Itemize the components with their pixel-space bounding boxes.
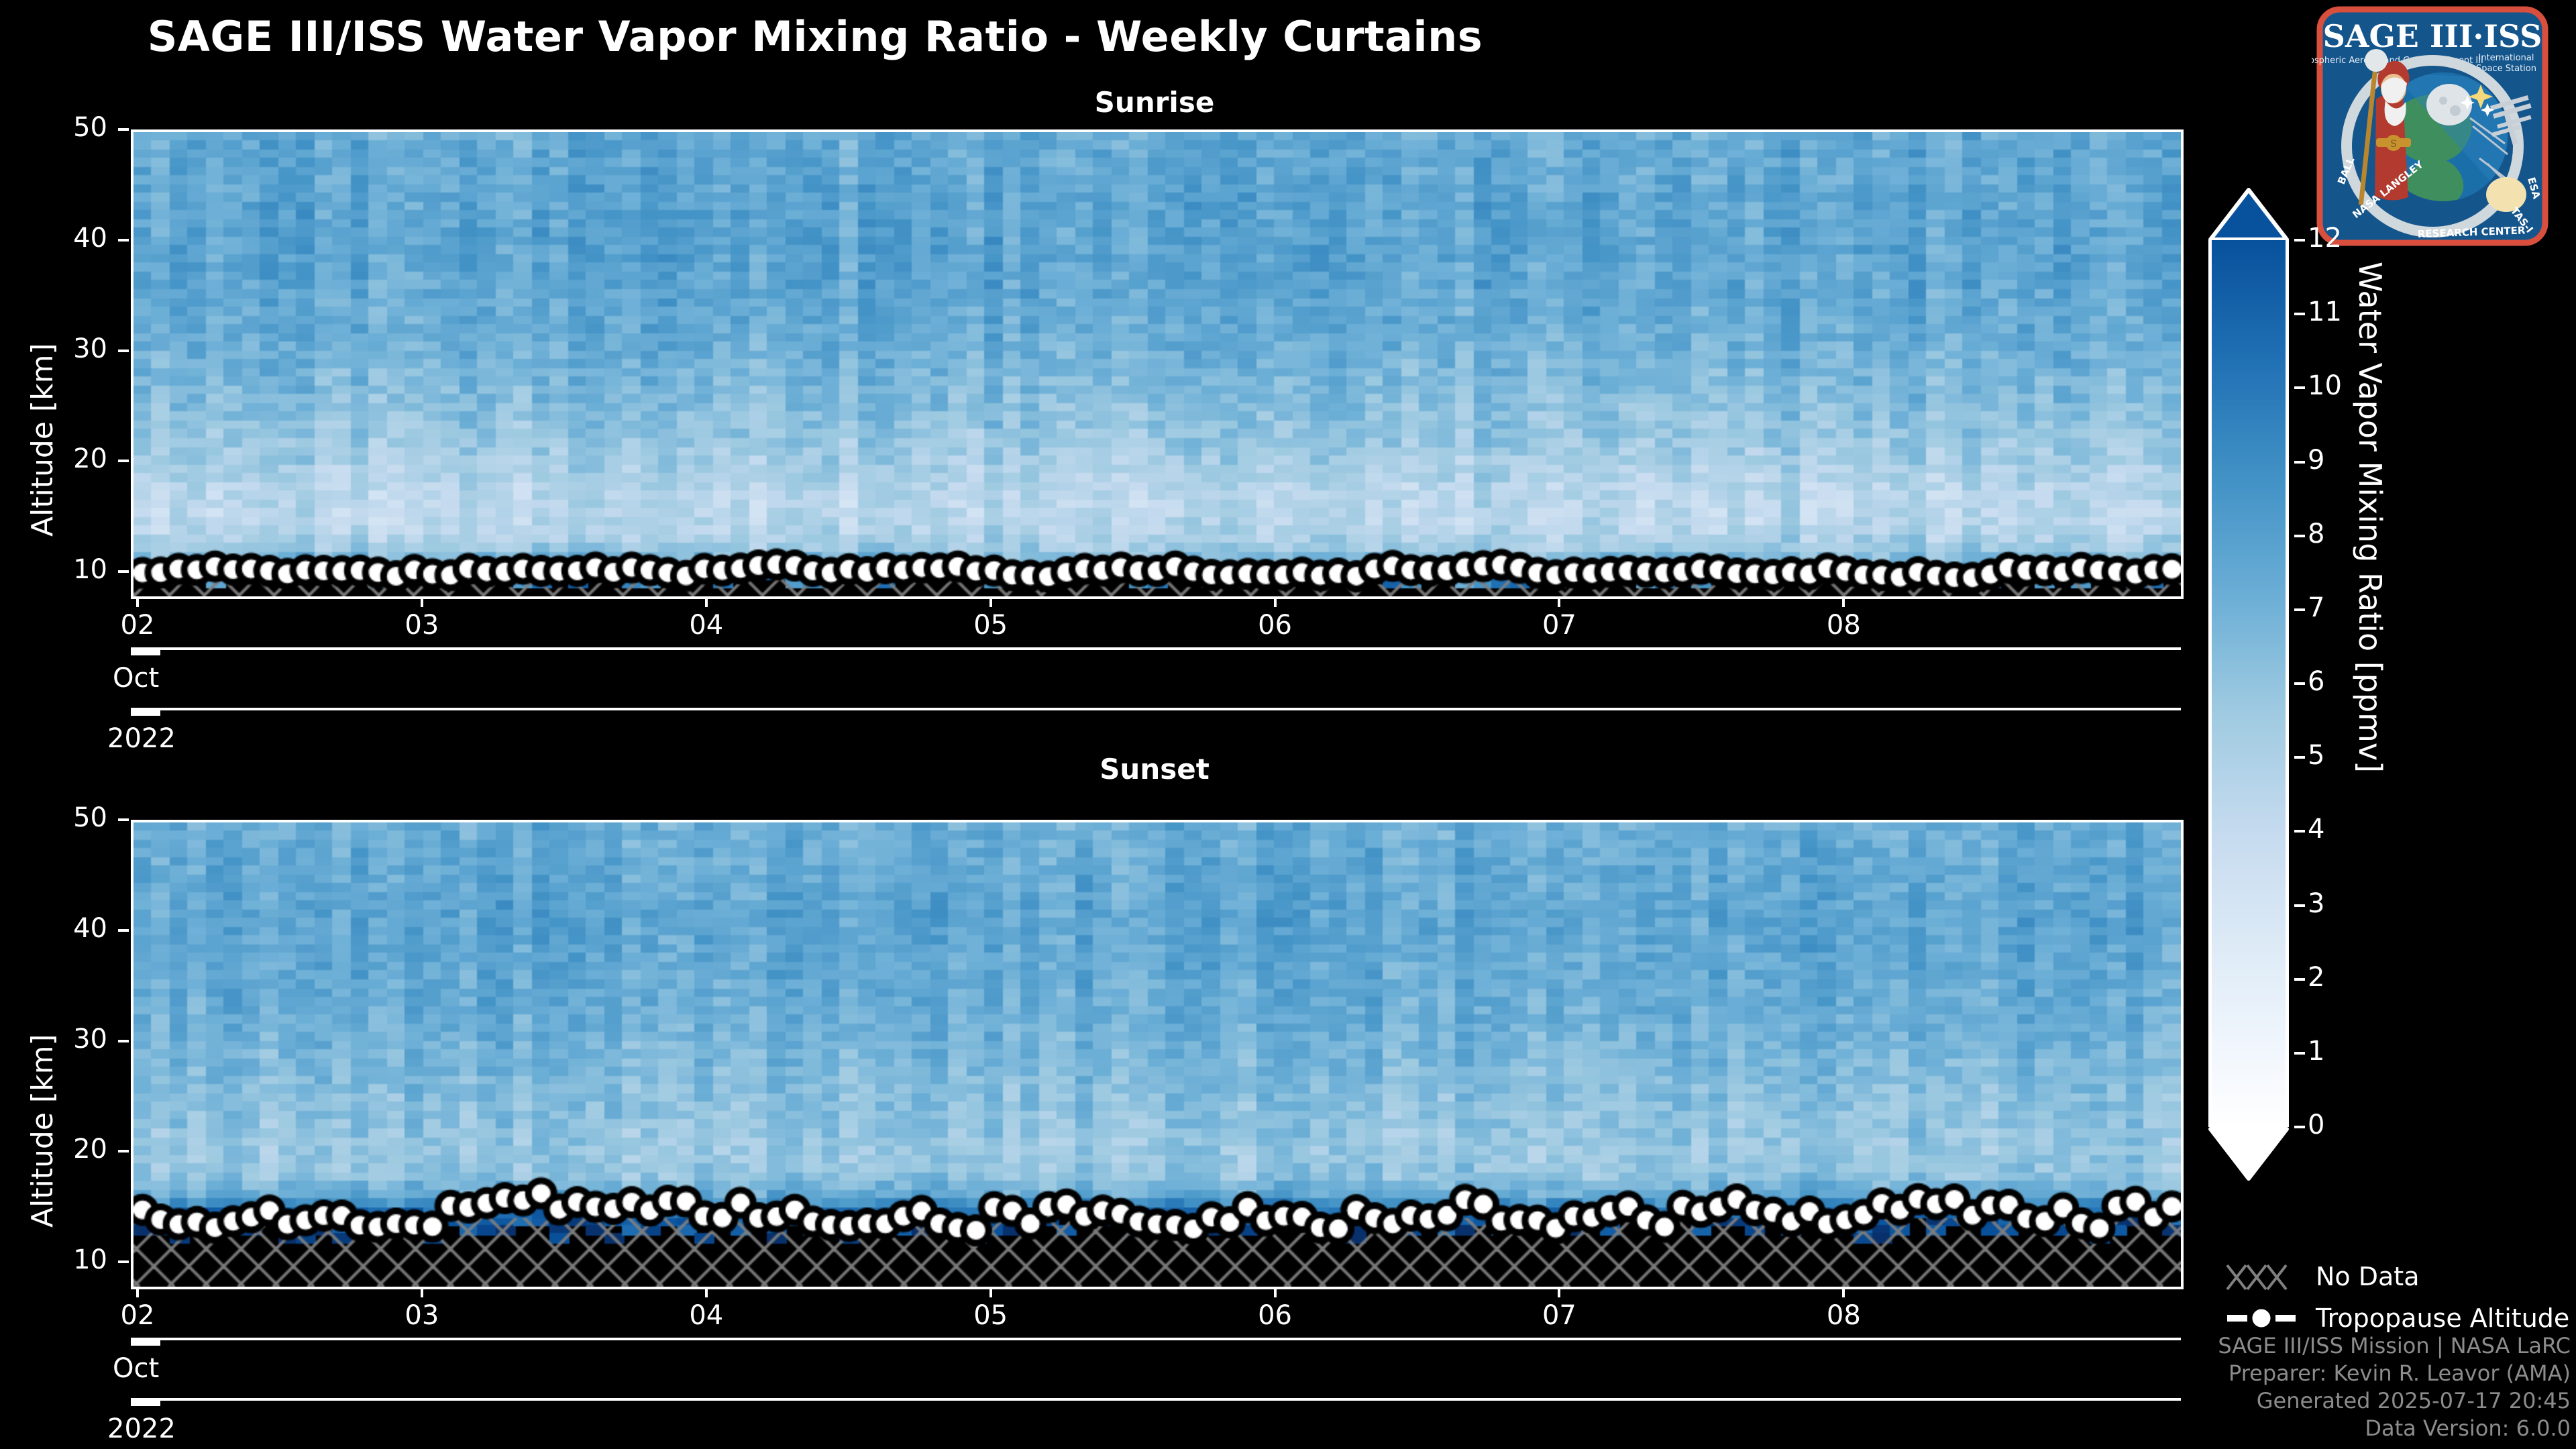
- x-tick-label: 02: [84, 610, 191, 641]
- y-tick-mark: [118, 818, 129, 821]
- x-tick-label: 05: [937, 610, 1044, 641]
- colorbar-tick-mark: [2294, 313, 2305, 315]
- x-tick-label: 06: [1222, 1300, 1329, 1331]
- date-spine-year-stub-sunrise: [131, 708, 160, 716]
- date-year-label-sunrise: 2022: [107, 723, 176, 754]
- colorbar-tick-label: 5: [2308, 740, 2324, 771]
- colorbar-tick-label: 11: [2308, 297, 2342, 327]
- legend: No Data Tropopause Altitude: [2226, 1256, 2575, 1339]
- legend-item-no-data: No Data: [2226, 1256, 2575, 1297]
- panel-title-sunrise: Sunrise: [131, 86, 2178, 119]
- x-tick-mark: [1274, 1287, 1277, 1297]
- date-spine-month-line-sunset: [131, 1338, 2181, 1340]
- colorbar-tick-label: 0: [2308, 1110, 2324, 1140]
- x-tick-label: 03: [368, 610, 476, 641]
- y-tick-label: 40: [27, 223, 107, 254]
- colorbar-tick-mark: [2294, 535, 2305, 537]
- heatmap-canvas-sunset: [133, 822, 2181, 1287]
- x-tick-label: 02: [84, 1300, 191, 1331]
- colorbar-tick-label: 1: [2308, 1036, 2324, 1067]
- logo-title-text: SAGE III·ISS: [2323, 18, 2542, 54]
- colorbar[interactable]: 1211109876543210: [2208, 188, 2289, 1181]
- tropopause-marker-icon: [2226, 1303, 2300, 1334]
- colorbar-tick-label: 8: [2308, 519, 2324, 549]
- legend-label-no-data: No Data: [2300, 1262, 2420, 1291]
- page-title: SAGE III/ISS Water Vapor Mixing Ratio - …: [0, 12, 1630, 61]
- x-tick-label: 04: [653, 1300, 760, 1331]
- colorbar-tick-label: 7: [2308, 592, 2324, 623]
- date-month-label-sunset: Oct: [113, 1353, 159, 1384]
- date-spine-month-stub-sunrise: [131, 647, 160, 655]
- colorbar-tick-mark: [2294, 386, 2305, 389]
- x-tick-mark: [989, 1287, 992, 1297]
- x-tick-label: 07: [1505, 1300, 1613, 1331]
- x-tick-mark: [1842, 1287, 1845, 1297]
- colorbar-tick-mark: [2294, 461, 2305, 464]
- x-tick-mark: [1842, 596, 1845, 607]
- x-tick-mark: [136, 596, 139, 607]
- y-tick-mark: [118, 350, 129, 352]
- heatmap-axes-sunset[interactable]: [131, 820, 2184, 1289]
- colorbar-extend-max-arrow: [2208, 188, 2289, 241]
- y-tick-mark: [118, 460, 129, 462]
- colorbar-tick-label: 2: [2308, 962, 2324, 993]
- date-spine-month-line-sunrise: [131, 647, 2181, 650]
- colorbar-tick-mark: [2294, 830, 2305, 833]
- legend-label-tropopause: Tropopause Altitude: [2300, 1303, 2569, 1333]
- colorbar-tick-mark: [2294, 904, 2305, 907]
- y-tick-label: 30: [27, 333, 107, 364]
- heatmap-axes-sunrise[interactable]: [131, 129, 2184, 599]
- colorbar-tick-mark: [2294, 756, 2305, 759]
- colorbar-label: Water Vapor Mixing Ratio [ppmv]: [2352, 262, 2388, 773]
- y-axis-label-sunset: Altitude [km]: [25, 1034, 60, 1228]
- y-tick-label: 50: [27, 112, 107, 143]
- x-tick-mark: [705, 1287, 708, 1297]
- y-tick-label: 10: [27, 1244, 107, 1275]
- x-tick-mark: [1558, 596, 1560, 607]
- logo-belt-s: S: [2390, 139, 2397, 150]
- sage-iss-mission-patch-logo: SAGE III·ISS Stratospheric Aerosol and G…: [2312, 5, 2553, 247]
- date-spine-year-line-sunset: [131, 1398, 2181, 1401]
- colorbar-tick-mark: [2294, 682, 2305, 685]
- colorbar-extend-min-arrow: [2208, 1127, 2289, 1181]
- colorbar-tick-mark: [2294, 978, 2305, 981]
- colorbar-gradient: [2208, 240, 2289, 1127]
- x-tick-label: 03: [368, 1300, 476, 1331]
- date-spine-month-stub-sunset: [131, 1338, 160, 1346]
- colorbar-tick-label: 9: [2308, 445, 2324, 476]
- logo-subtitle-right-1: International: [2479, 53, 2534, 63]
- y-tick-mark: [118, 570, 129, 573]
- logo-svg: SAGE III·ISS Stratospheric Aerosol and G…: [2312, 5, 2553, 247]
- y-tick-mark: [118, 929, 129, 932]
- y-tick-mark: [118, 128, 129, 131]
- x-tick-label: 04: [653, 610, 760, 641]
- x-tick-mark: [421, 1287, 423, 1297]
- colorbar-tick-mark: [2294, 239, 2305, 241]
- x-tick-label: 05: [937, 1300, 1044, 1331]
- colorbar-tick-label: 6: [2308, 666, 2324, 697]
- y-tick-label: 10: [27, 554, 107, 585]
- colorbar-tick-mark: [2294, 1126, 2305, 1128]
- x-tick-label: 06: [1222, 610, 1329, 641]
- date-year-label-sunset: 2022: [107, 1413, 176, 1444]
- colorbar-tick-label: 4: [2308, 814, 2324, 845]
- x-tick-mark: [705, 596, 708, 607]
- colorbar-tick-label: 10: [2308, 370, 2342, 401]
- heatmap-canvas-sunrise: [133, 132, 2181, 596]
- x-tick-label: 08: [1790, 1300, 1897, 1331]
- colorbar-tick-label: 12: [2308, 223, 2342, 254]
- footer-credits: SAGE III/ISS Mission | NASA LaRC Prepare…: [2218, 1332, 2571, 1442]
- footer-line-mission: SAGE III/ISS Mission | NASA LaRC: [2218, 1332, 2571, 1360]
- date-spine-year-line-sunrise: [131, 708, 2181, 710]
- y-tick-label: 40: [27, 913, 107, 944]
- y-tick-mark: [118, 1040, 129, 1042]
- y-tick-mark: [118, 1150, 129, 1152]
- x-tick-label: 07: [1505, 610, 1613, 641]
- footer-line-preparer: Preparer: Kevin R. Leavor (AMA): [2218, 1360, 2571, 1387]
- x-tick-mark: [989, 596, 992, 607]
- date-month-label-sunrise: Oct: [113, 663, 159, 694]
- footer-line-version: Data Version: 6.0.0: [2218, 1415, 2571, 1442]
- x-tick-mark: [1274, 596, 1277, 607]
- x-tick-label: 08: [1790, 610, 1897, 641]
- colorbar-tick-label: 3: [2308, 888, 2324, 919]
- x-tick-mark: [136, 1287, 139, 1297]
- footer-line-generated: Generated 2025-07-17 20:45: [2218, 1387, 2571, 1415]
- y-tick-mark: [118, 1260, 129, 1263]
- y-tick-label: 20: [27, 443, 107, 474]
- panel-title-sunset: Sunset: [131, 753, 2178, 786]
- x-tick-mark: [1558, 1287, 1560, 1297]
- no-data-hatch-icon: [2226, 1261, 2300, 1292]
- y-tick-label: 50: [27, 802, 107, 833]
- y-axis-label-sunrise: Altitude [km]: [25, 343, 60, 537]
- colorbar-tick-mark: [2294, 1052, 2305, 1055]
- colorbar-tick-mark: [2294, 608, 2305, 611]
- y-tick-label: 20: [27, 1134, 107, 1165]
- y-tick-label: 30: [27, 1024, 107, 1055]
- x-tick-mark: [421, 596, 423, 607]
- date-spine-year-stub-sunset: [131, 1398, 160, 1406]
- y-tick-mark: [118, 239, 129, 241]
